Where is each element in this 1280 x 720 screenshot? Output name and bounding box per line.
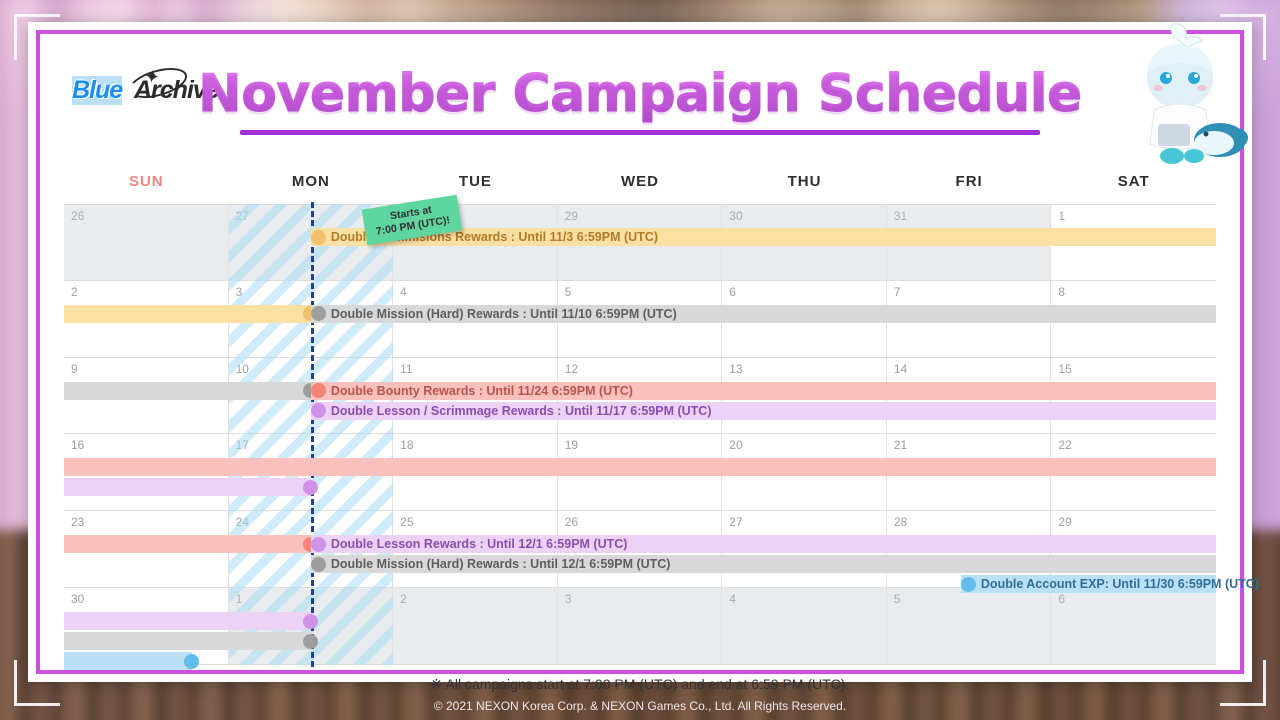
schedule-card-border: Blue Archive ✦ November Campaign Schedul… <box>36 30 1244 674</box>
day-number: 19 <box>565 438 578 452</box>
weekday-header-wed: WED <box>558 166 723 196</box>
card-header: Blue Archive ✦ November Campaign Schedul… <box>44 38 1236 166</box>
event-bar[interactable]: Double Account EXP: Until 11/30 6:59PM (… <box>961 575 1216 593</box>
day-number: 3 <box>565 592 572 606</box>
day-number: 8 <box>1058 285 1065 299</box>
event-end-dot-icon <box>303 480 318 495</box>
event-bar[interactable]: Double Bounty Rewards : Until 11/24 6:59… <box>311 382 1216 400</box>
day-number: 12 <box>565 362 578 376</box>
event-bar[interactable] <box>64 458 1216 476</box>
event-start-dot-icon <box>311 383 326 398</box>
day-number: 20 <box>729 438 742 452</box>
weekday-header-sat: SAT <box>1051 166 1216 196</box>
character-illustration-icon <box>1128 20 1248 170</box>
day-number: 22 <box>1058 438 1071 452</box>
calendar-day-cell[interactable]: 5 <box>887 588 1052 664</box>
event-bar[interactable] <box>64 632 311 650</box>
event-bar[interactable] <box>64 652 192 670</box>
calendar-weeks: 2627282930311234567891011121314151617181… <box>64 204 1216 665</box>
weekday-header-tue: TUE <box>393 166 558 196</box>
day-number: 2 <box>71 285 78 299</box>
event-label: Double Mission (Hard) Rewards : Until 12… <box>331 557 677 571</box>
schedule-card: Blue Archive ✦ November Campaign Schedul… <box>28 22 1252 682</box>
schedule-card-content: Blue Archive ✦ November Campaign Schedul… <box>44 38 1236 666</box>
day-number: 1 <box>1058 209 1065 223</box>
event-label: Double Lesson Rewards : Until 12/1 6:59P… <box>331 537 634 551</box>
weekday-header-row: SUNMONTUEWEDTHUFRISAT <box>64 166 1216 196</box>
calendar-day-cell[interactable]: 26 <box>64 205 229 280</box>
event-label: Double Account EXP: Until 11/30 6:59PM (… <box>981 577 1265 591</box>
event-start-dot-icon <box>311 306 326 321</box>
day-number: 5 <box>894 592 901 606</box>
page-title-wrap: November Campaign Schedule <box>44 64 1236 135</box>
day-number: 3 <box>236 285 243 299</box>
event-bar[interactable] <box>64 612 311 630</box>
day-number: 24 <box>236 515 249 529</box>
event-end-dot-icon <box>184 654 199 669</box>
title-underline <box>240 130 1040 135</box>
event-bar[interactable] <box>64 305 311 323</box>
day-number: 17 <box>236 438 249 452</box>
day-number: 15 <box>1058 362 1071 376</box>
day-number: 1 <box>236 592 243 606</box>
event-start-dot-icon <box>311 230 326 245</box>
day-number: 30 <box>71 592 84 606</box>
event-start-dot-icon <box>311 557 326 572</box>
day-number: 29 <box>565 209 578 223</box>
event-bar[interactable]: Double Mission (Hard) Rewards : Until 12… <box>311 555 1216 573</box>
event-start-dot-icon <box>961 577 976 592</box>
day-number: 26 <box>565 515 578 529</box>
day-number: 30 <box>729 209 742 223</box>
day-number: 16 <box>71 438 84 452</box>
day-number: 2 <box>400 592 407 606</box>
calendar-day-cell[interactable]: 6 <box>1051 588 1216 664</box>
calendar-day-cell[interactable]: 4 <box>722 588 887 664</box>
event-end-dot-icon <box>303 614 318 629</box>
day-number: 14 <box>894 362 907 376</box>
day-number: 11 <box>400 362 412 376</box>
event-start-dot-icon <box>311 403 326 418</box>
event-bar[interactable]: Double Mission (Hard) Rewards : Until 11… <box>311 305 1216 323</box>
day-number: 28 <box>894 515 907 529</box>
day-number: 5 <box>565 285 572 299</box>
weekday-header-fri: FRI <box>887 166 1052 196</box>
day-number: 29 <box>1058 515 1071 529</box>
day-number: 4 <box>729 592 736 606</box>
calendar-day-cell[interactable]: 2 <box>393 588 558 664</box>
event-label: Double Mission (Hard) Rewards : Until 11… <box>331 307 683 321</box>
day-number: 26 <box>71 209 84 223</box>
footnote-text: ※ All campaigns start at 7:00 PM (UTC) a… <box>44 676 1236 693</box>
page-title: November Campaign Schedule <box>190 64 1090 124</box>
day-number: 10 <box>236 362 249 376</box>
day-number: 27 <box>729 515 742 529</box>
copyright-text: © 2021 NEXON Korea Corp. & NEXON Games C… <box>0 699 1280 713</box>
day-number: 9 <box>71 362 78 376</box>
event-label: Double Bounty Rewards : Until 11/24 6:59… <box>331 384 639 398</box>
day-number: 27 <box>236 209 249 223</box>
event-bar[interactable]: Double Lesson / Scrimmage Rewards : Unti… <box>311 402 1216 420</box>
weekday-header-sun: SUN <box>64 166 229 196</box>
day-number: 23 <box>71 515 84 529</box>
day-number: 6 <box>1058 592 1065 606</box>
event-bar[interactable]: Double Lesson Rewards : Until 12/1 6:59P… <box>311 535 1216 553</box>
event-bar[interactable] <box>64 478 311 496</box>
weekday-header-mon: MON <box>229 166 394 196</box>
weekday-header-thu: THU <box>722 166 887 196</box>
calendar-grid: 2627282930311234567891011121314151617181… <box>64 204 1216 665</box>
day-number: 25 <box>400 515 413 529</box>
day-number: 21 <box>894 438 907 452</box>
day-number: 6 <box>729 285 736 299</box>
day-number: 31 <box>894 209 907 223</box>
event-bar[interactable] <box>64 535 311 553</box>
event-label: Double Lesson / Scrimmage Rewards : Unti… <box>331 404 718 418</box>
day-number: 13 <box>729 362 742 376</box>
day-number: 4 <box>400 285 407 299</box>
event-end-dot-icon <box>303 634 318 649</box>
day-number: 18 <box>400 438 413 452</box>
day-number: 7 <box>894 285 901 299</box>
event-start-dot-icon <box>311 537 326 552</box>
calendar-day-cell[interactable]: 3 <box>558 588 723 664</box>
event-bar[interactable] <box>64 382 311 400</box>
